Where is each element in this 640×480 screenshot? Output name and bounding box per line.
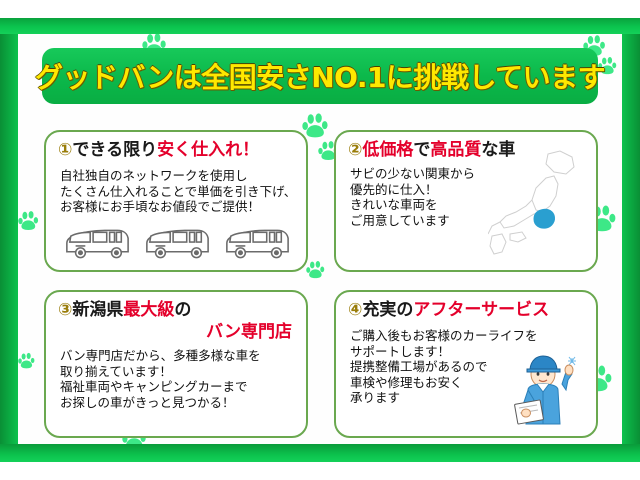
panel-3-number: ③ bbox=[58, 300, 72, 320]
frame-right-border bbox=[622, 34, 640, 444]
panel-3-body-line: 福祉車両やキャンピングカーまで bbox=[60, 379, 261, 395]
panel-1-body-line: たくさん仕入れることで単価を引き下げ、 bbox=[60, 184, 296, 200]
panel-3-heading-line1: ③新潟県最大級の bbox=[58, 300, 298, 320]
panel-4-heading-red: アフターサービス bbox=[413, 300, 549, 320]
panel-2-heading-mid: で bbox=[413, 140, 430, 160]
advertisement-graphic: グッドバンは全国安さNO.1に挑戦しています ①できる限り安く仕入れ！ 自社独自… bbox=[0, 0, 640, 480]
panel-3-body: バン専門店だから、多種多様な車を 取り揃えています！ 福祉車両やキャンピングカー… bbox=[60, 348, 261, 410]
panel-1-heading-black: できる限り bbox=[72, 140, 157, 160]
paw-print-icon bbox=[18, 210, 40, 232]
panel-2-body: サビの少ない関東から 優先的に仕入！ きれいな車両を ご用意しています bbox=[350, 166, 475, 228]
panel-2-body-line: きれいな車両を bbox=[350, 197, 475, 213]
panel-2-heading-red2: 高品質 bbox=[430, 140, 481, 160]
feature-panel-4: ④充実のアフターサービス ご購入後もお客様のカーライフを サポートします！ 提携… bbox=[334, 290, 598, 438]
content-canvas: グッドバンは全国安さNO.1に挑戦しています ①できる限り安く仕入れ！ 自社独自… bbox=[18, 34, 622, 444]
panel-1-body-line: お客様にお手頃なお値段でご提供！ bbox=[60, 199, 296, 215]
van-icon bbox=[222, 224, 292, 264]
panel-4-number: ④ bbox=[348, 300, 362, 320]
panel-1-heading-red: 安く仕入れ！ bbox=[157, 140, 259, 160]
panel-3-heading-end: の bbox=[174, 300, 191, 320]
paw-print-icon bbox=[302, 112, 330, 140]
paw-print-icon bbox=[18, 352, 36, 370]
panel-3-body-line: 取り揃えています！ bbox=[60, 364, 261, 380]
feature-panel-3: ③新潟県最大級の バン専門店 バン専門店だから、多種多様な車を 取り揃えています… bbox=[44, 290, 308, 438]
panel-2-number: ② bbox=[348, 140, 362, 160]
headline-banner: グッドバンは全国安さNO.1に挑戦しています bbox=[42, 48, 598, 104]
panel-2-body-line: ご用意しています bbox=[350, 213, 475, 229]
panel-3-body-line: バン専門店だから、多種多様な車を bbox=[60, 348, 261, 364]
panel-1-number: ① bbox=[58, 140, 72, 160]
panel-3-heading-red: 最大級 bbox=[123, 300, 174, 320]
mechanic-illustration bbox=[510, 350, 588, 436]
frame-left-border bbox=[0, 34, 18, 444]
feature-panel-1: ①できる限り安く仕入れ！ 自社独自のネットワークを使用し たくさん仕入れることで… bbox=[44, 130, 308, 272]
panel-3-heading-black: 新潟県 bbox=[72, 300, 123, 320]
feature-panel-2: ②低価格で高品質な車 サビの少ない関東から 優先的に仕入！ きれいな車両を ご用… bbox=[334, 130, 598, 272]
van-icon bbox=[142, 224, 212, 264]
panel-4-body-line: ご購入後もお客様のカーライフを bbox=[350, 328, 538, 344]
panel-1-body-line: 自社独自のネットワークを使用し bbox=[60, 168, 296, 184]
van-icon bbox=[62, 224, 132, 264]
panel-1-body: 自社独自のネットワークを使用し たくさん仕入れることで単価を引き下げ、 お客様に… bbox=[60, 168, 296, 215]
frame-bottom-border bbox=[0, 444, 640, 462]
panel-3-heading-line2: バン専門店 bbox=[58, 322, 292, 342]
frame-top-border bbox=[0, 18, 640, 34]
japan-map-illustration bbox=[488, 148, 592, 268]
headline-text: グッドバンは全国安さNO.1に挑戦しています bbox=[35, 56, 605, 96]
panel-2-heading-red: 低価格 bbox=[362, 140, 413, 160]
panel-2-body-line: 優先的に仕入！ bbox=[350, 182, 475, 198]
panel-3-body-line: お探しの車がきっと見つかる！ bbox=[60, 395, 261, 411]
panel-1-heading: ①できる限り安く仕入れ！ bbox=[58, 140, 298, 160]
paw-print-icon bbox=[306, 260, 326, 280]
van-row-illustration bbox=[62, 224, 294, 266]
panel-4-heading: ④充実のアフターサービス bbox=[348, 300, 588, 320]
panel-2-body-line: サビの少ない関東から bbox=[350, 166, 475, 182]
panel-4-heading-black: 充実の bbox=[362, 300, 413, 320]
panel-3-heading-line2-red: バン専門店 bbox=[206, 322, 292, 342]
